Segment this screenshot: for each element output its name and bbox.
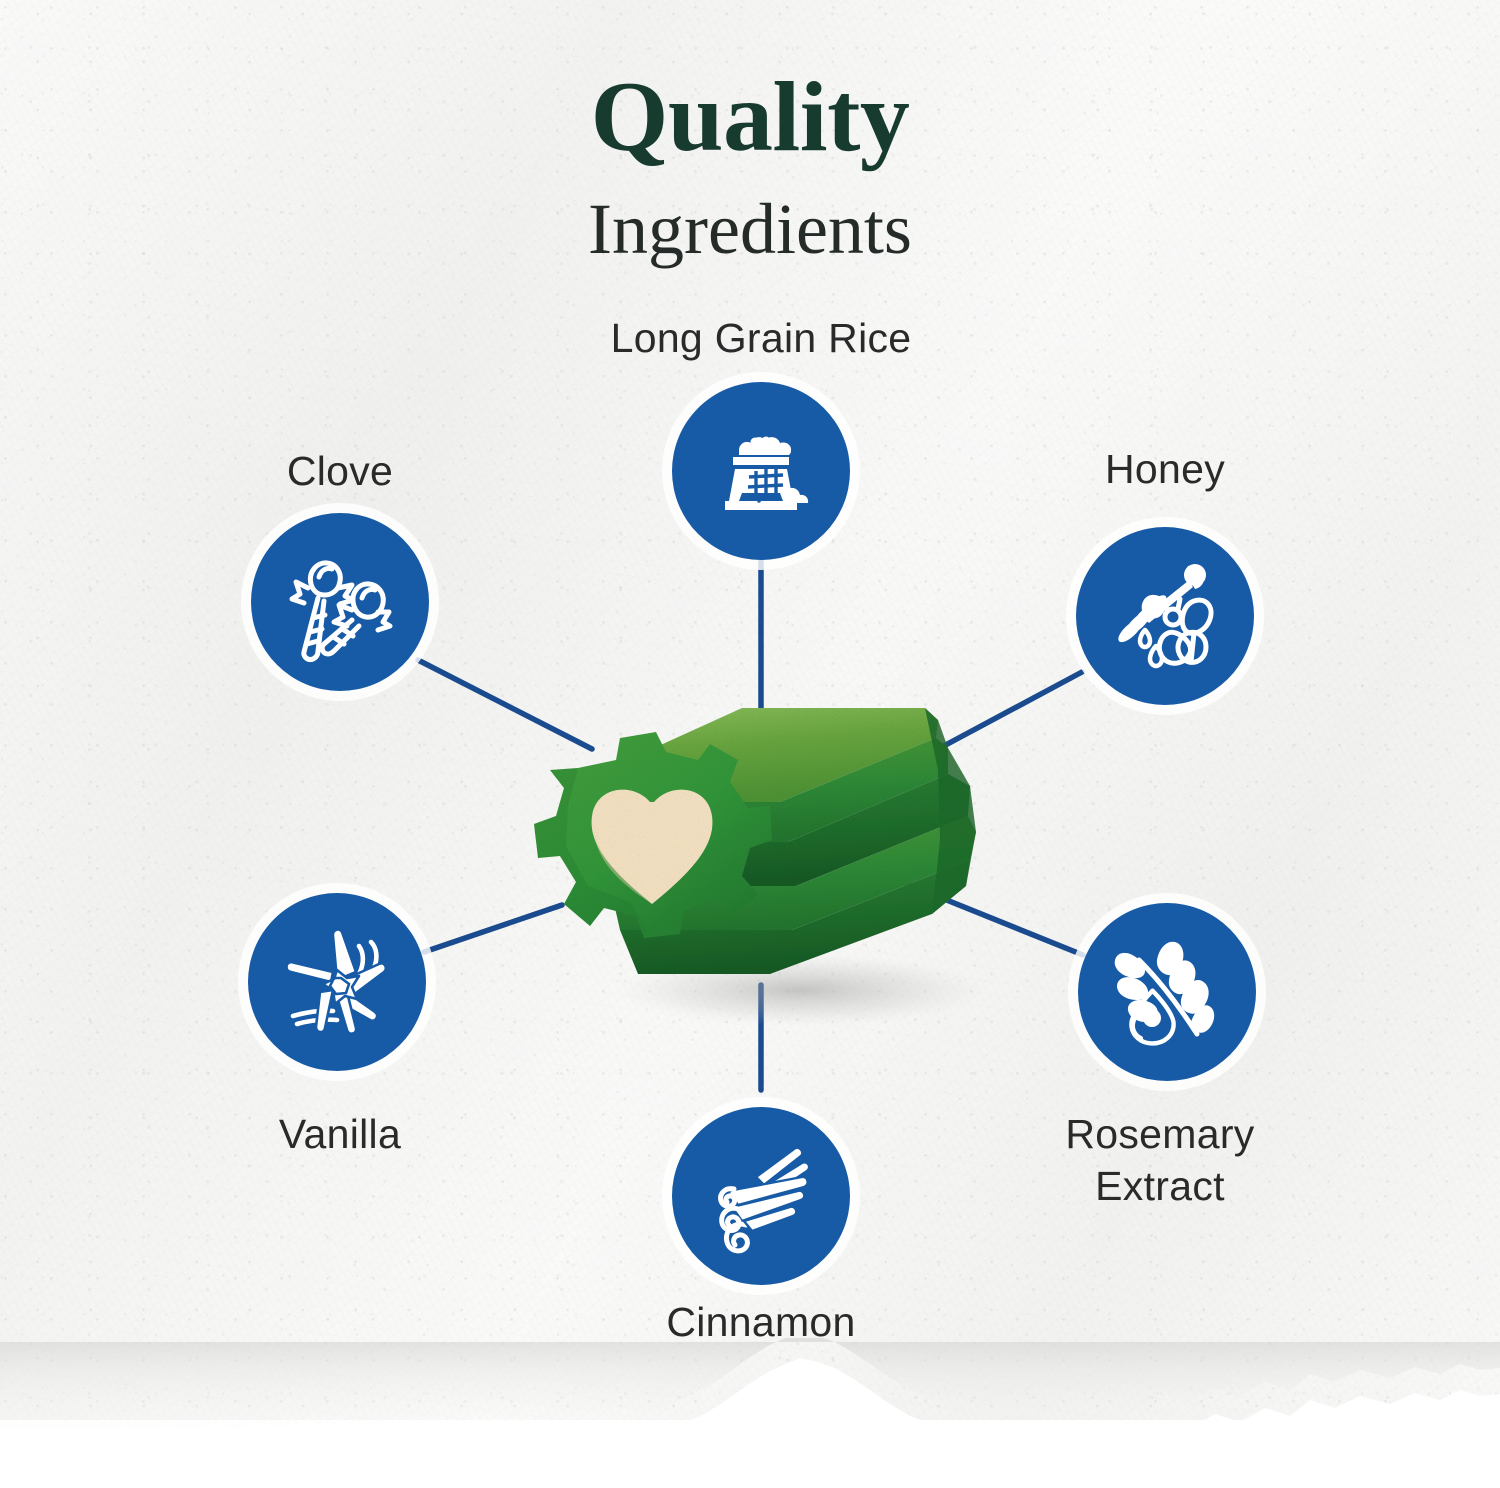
ingredient-label-clove: Clove xyxy=(170,445,510,497)
rice-sack-icon xyxy=(701,411,821,531)
ingredient-label-honey: Honey xyxy=(1000,443,1330,495)
quality-ingredients-infographic: Quality Ingredients xyxy=(0,0,1500,1488)
ingredient-icon-rosemary-extract[interactable] xyxy=(1078,903,1256,1081)
vanilla-flower-icon xyxy=(275,920,399,1044)
ingredient-icon-cinnamon[interactable] xyxy=(672,1107,850,1285)
cinnamon-stick-icon xyxy=(698,1133,824,1259)
clove-bud-icon xyxy=(278,540,402,664)
ingredient-icon-long-grain-rice[interactable] xyxy=(672,382,850,560)
ingredient-icon-honey[interactable] xyxy=(1076,527,1254,705)
ingredient-label-rosemary-line1: Rosemary xyxy=(1000,1108,1320,1160)
ingredient-label-cinnamon: Cinnamon xyxy=(596,1296,926,1348)
ingredient-label-long-grain-rice: Long Grain Rice xyxy=(511,312,1011,364)
ingredient-label-rosemary-extract: Rosemary Extract xyxy=(1000,1108,1320,1213)
rosemary-sprig-drop-icon xyxy=(1105,930,1229,1054)
page-title: Quality xyxy=(0,64,1500,170)
ingredient-label-rosemary-line2: Extract xyxy=(1000,1160,1320,1212)
ingredient-icon-clove[interactable] xyxy=(251,513,429,691)
ingredient-label-vanilla: Vanilla xyxy=(175,1108,505,1160)
page-subtitle: Ingredients xyxy=(0,190,1500,269)
ingredient-icon-vanilla[interactable] xyxy=(248,893,426,1071)
honey-dipper-bee-icon xyxy=(1102,553,1228,679)
product-image xyxy=(470,690,1030,1050)
